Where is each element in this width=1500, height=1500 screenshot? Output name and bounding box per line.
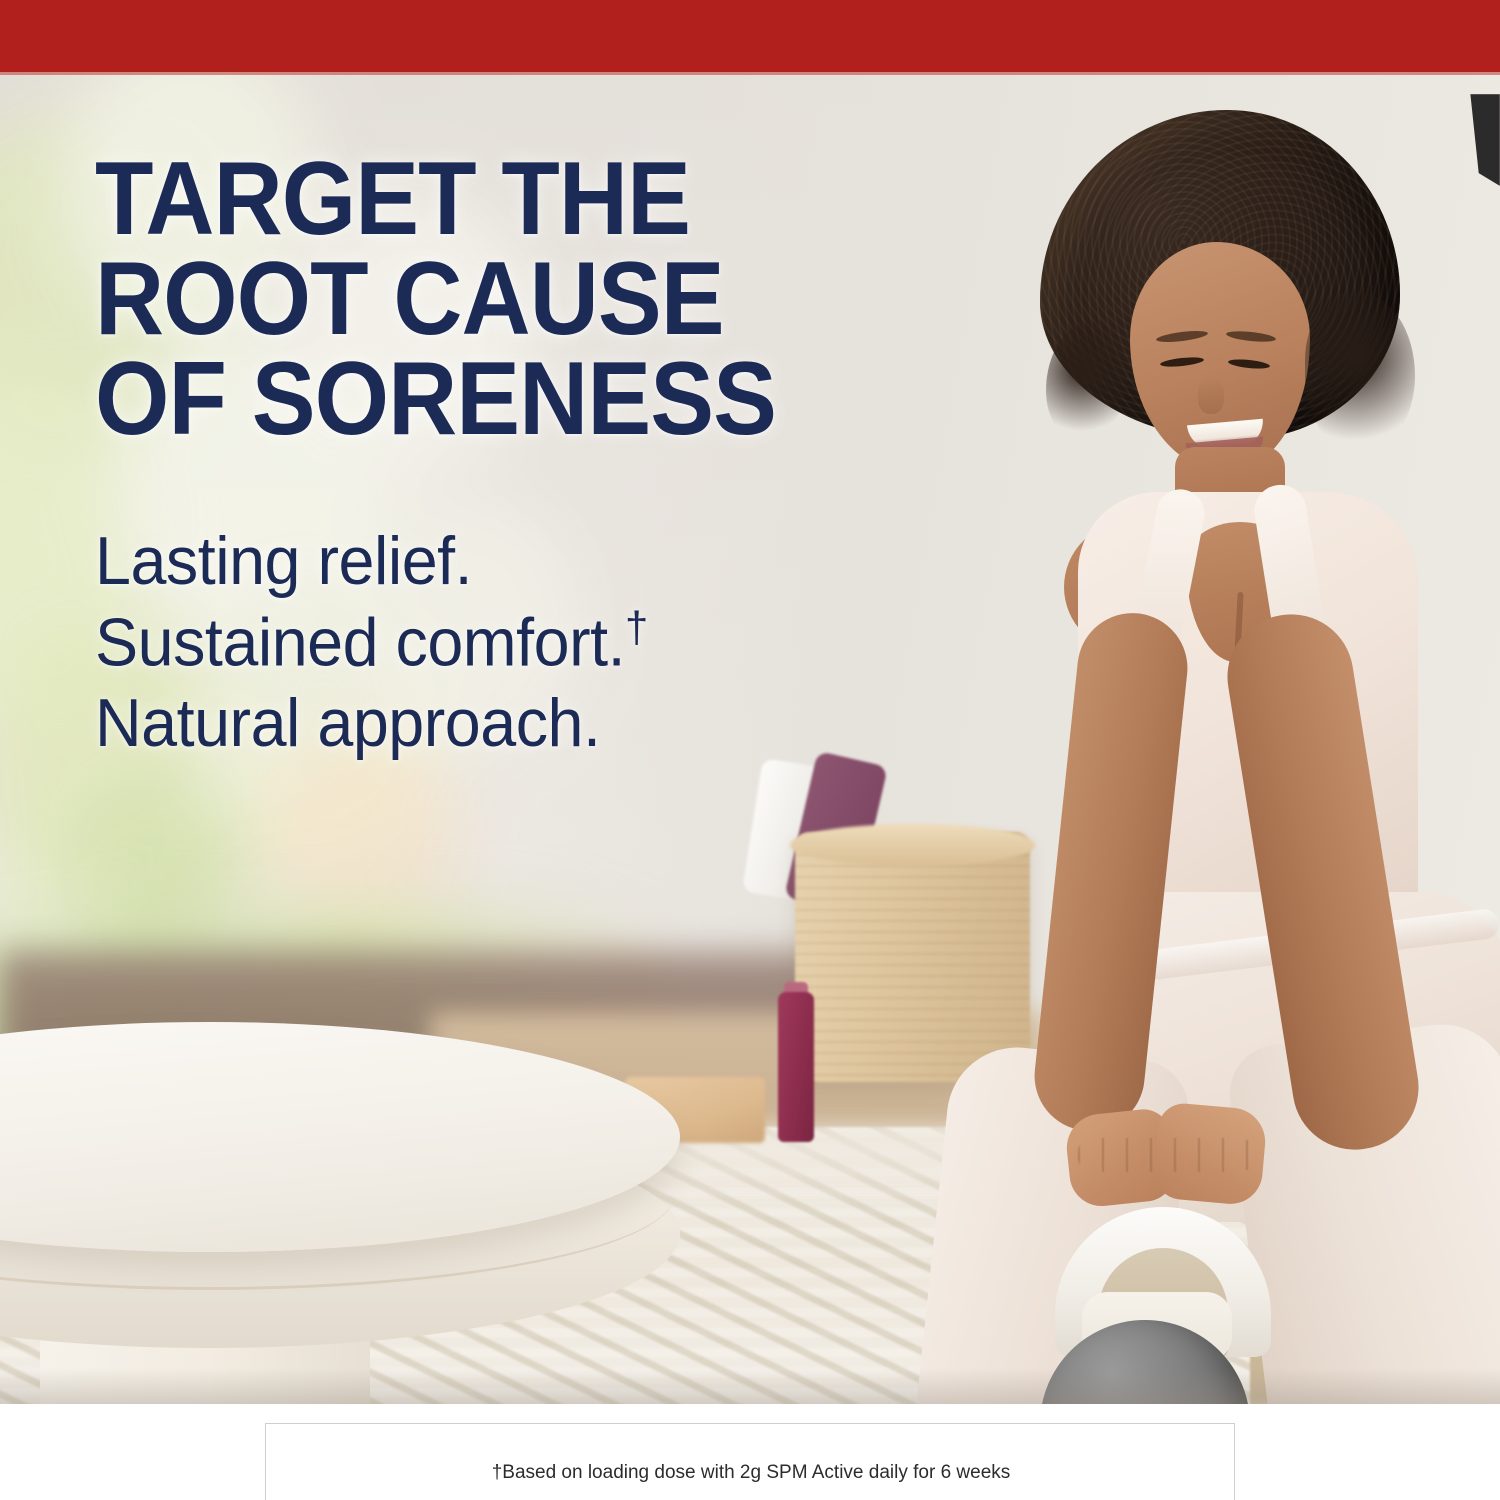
sub-line-2: Sustained comfort.†: [95, 602, 969, 683]
sub-line-1: Lasting relief.: [95, 521, 969, 601]
hair-wisp-right: [1305, 292, 1415, 452]
woman-exercising: [960, 92, 1500, 1404]
sub-line-3: Natural approach.: [95, 683, 969, 763]
knuckles: [1078, 1138, 1254, 1172]
sub-line-2-text: Sustained comfort.: [95, 604, 625, 680]
nose: [1198, 378, 1224, 414]
brand-top-bar: [0, 0, 1500, 72]
subheadline: Lasting relief. Sustained comfort.† Natu…: [95, 521, 969, 762]
headline-line-2: ROOT CAUSE: [95, 250, 941, 350]
dagger-symbol: †: [625, 603, 648, 652]
page-title: TARGET THE ROOT CAUSE OF SORENESS: [95, 150, 941, 449]
footnote-text: †Based on loading dose with 2g SPM Activ…: [266, 1462, 1236, 1484]
photo-bottom-shade: [0, 1368, 1500, 1404]
brand-bar-underline: [0, 72, 1500, 75]
headline-line-1: TARGET THE: [95, 150, 941, 250]
headline-line-3: OF SORENESS: [95, 350, 941, 450]
marketing-banner: TARGET THE ROOT CAUSE OF SORENESS Lastin…: [0, 0, 1500, 1500]
pedestal-table: [0, 1022, 700, 1404]
water-bottle: [778, 992, 814, 1142]
footnote-area: †Based on loading dose with 2g SPM Activ…: [0, 1404, 1500, 1500]
copy-block: TARGET THE ROOT CAUSE OF SORENESS Lastin…: [95, 150, 1015, 763]
footnote-box: †Based on loading dose with 2g SPM Activ…: [265, 1423, 1235, 1500]
